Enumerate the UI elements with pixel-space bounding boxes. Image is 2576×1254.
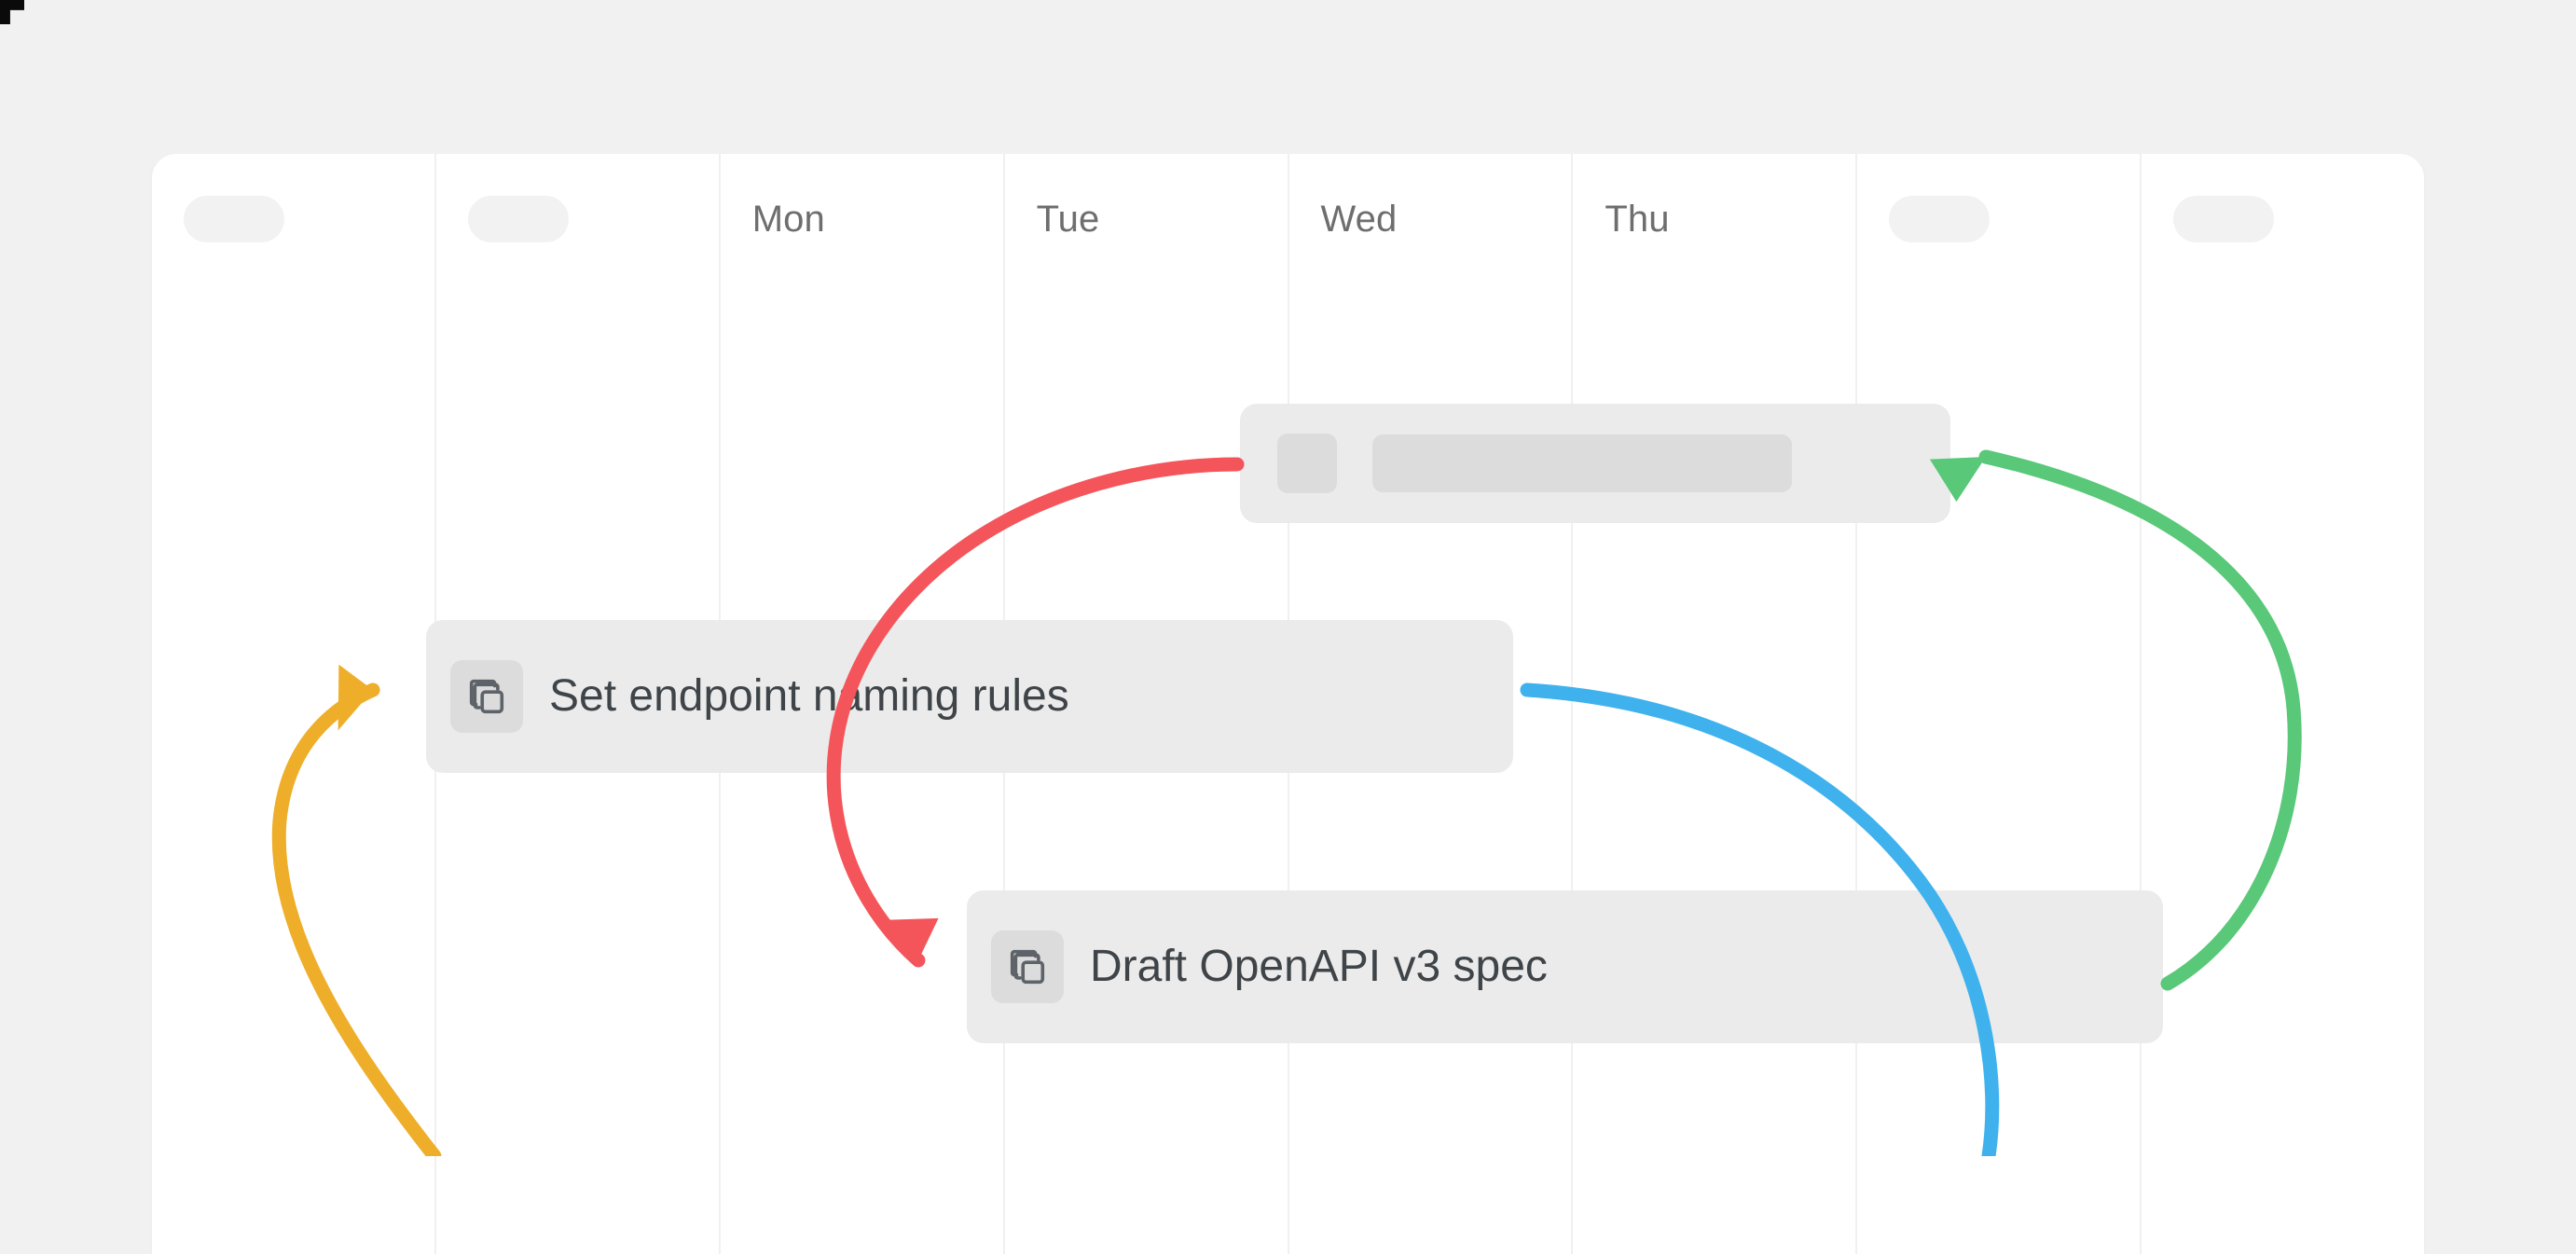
column-header-1	[184, 193, 284, 245]
day-label-wed: Wed	[1321, 200, 1398, 238]
event-icon-placeholder	[1277, 434, 1337, 493]
event-card-set-endpoint-naming-rules[interactable]: Set endpoint naming rules	[426, 620, 1513, 773]
event-skeleton-bar[interactable]	[1240, 404, 1950, 523]
event-card-draft-openapi-v3-spec[interactable]: Draft OpenAPI v3 spec	[967, 890, 2163, 1043]
day-label-skeleton	[1889, 196, 1990, 242]
event-title-placeholder	[1372, 434, 1792, 492]
column-header-thu: Thu	[1605, 193, 1669, 245]
event-title: Draft OpenAPI v3 spec	[1090, 944, 1548, 989]
screen-root: Mon Tue Wed Thu	[0, 0, 2576, 1156]
event-title: Set endpoint naming rules	[549, 674, 1069, 719]
column-header-2	[468, 193, 569, 245]
day-label-skeleton	[468, 196, 569, 242]
column-header-tue: Tue	[1037, 193, 1100, 245]
stacked-layers-icon	[991, 930, 1064, 1003]
day-label-mon: Mon	[752, 200, 825, 238]
column-header-wed: Wed	[1321, 193, 1398, 245]
calendar-column-1[interactable]	[152, 154, 436, 1254]
stacked-layers-icon	[450, 660, 523, 733]
day-label-skeleton	[184, 196, 284, 242]
calendar-column-7[interactable]	[1857, 154, 2142, 1254]
day-label-tue: Tue	[1037, 200, 1100, 238]
column-header-8	[2173, 193, 2274, 245]
cursor-artifact	[0, 0, 24, 24]
column-header-mon: Mon	[752, 193, 825, 245]
day-label-skeleton	[2173, 196, 2274, 242]
column-header-7	[1889, 193, 1990, 245]
calendar-column-8[interactable]	[2142, 154, 2424, 1254]
day-label-thu: Thu	[1605, 200, 1669, 238]
calendar-column-thu[interactable]: Thu	[1573, 154, 1857, 1254]
